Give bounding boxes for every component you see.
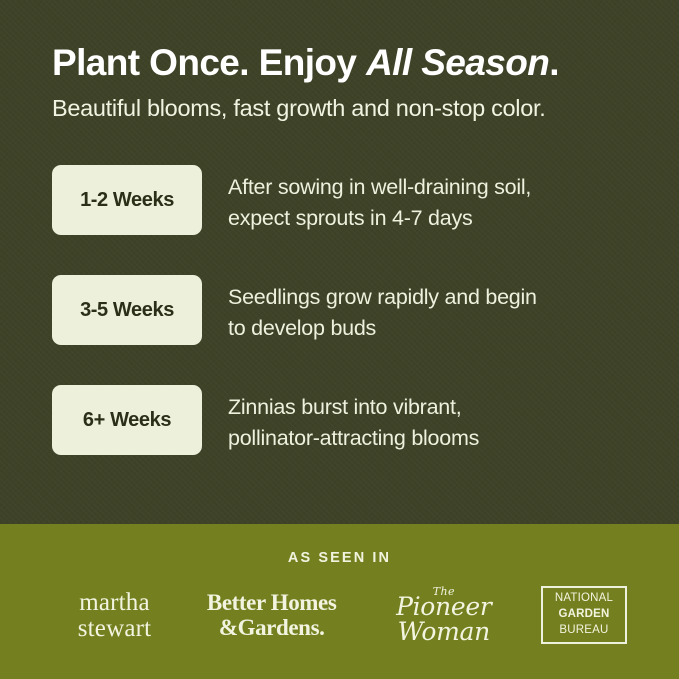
logo-line: martha [79, 590, 150, 615]
description-line: Seedlings grow rapidly and begin [228, 282, 627, 313]
description-line: After sowing in well-draining soil, [228, 172, 627, 203]
logo-line: &Gardens. [219, 616, 325, 639]
timeline-badge-6-plus-weeks: 6+ Weeks [52, 385, 202, 455]
timeline-row: 1-2 Weeks After sowing in well-draining … [52, 165, 627, 235]
logo-line: BUREAU [559, 623, 608, 639]
timeline-row: 6+ Weeks Zinnias burst into vibrant, pol… [52, 385, 627, 455]
better-homes-and-gardens-logo: Better Homes &Gardens. [197, 591, 347, 639]
headline-part1: Plant Once. Enjoy [52, 42, 366, 83]
logo-line: GARDEN [558, 607, 609, 623]
timeline-badge-1-2-weeks: 1-2 Weeks [52, 165, 202, 235]
description-line: expect sprouts in 4-7 days [228, 203, 627, 234]
press-logo-row: martha stewart Better Homes &Gardens. Th… [24, 586, 655, 644]
press-section: AS SEEN IN martha stewart Better Homes &… [0, 524, 679, 679]
logo-line: Better Homes [207, 591, 337, 614]
national-garden-bureau-logo: NATIONAL GARDEN BUREAU [541, 586, 627, 644]
description-line: Zinnias burst into vibrant, [228, 392, 627, 423]
badge-label: 3-5 Weeks [80, 300, 174, 320]
description-line: pollinator-attracting blooms [228, 423, 627, 454]
hero-section: Plant Once. Enjoy All Season. Beautiful … [0, 0, 679, 524]
badge-label: 6+ Weeks [83, 410, 171, 430]
timeline-badge-3-5-weeks: 3-5 Weeks [52, 275, 202, 345]
headline-part2: . [549, 42, 559, 83]
growth-timeline: 1-2 Weeks After sowing in well-draining … [52, 165, 627, 455]
timeline-row: 3-5 Weeks Seedlings grow rapidly and beg… [52, 275, 627, 345]
badge-label: 1-2 Weeks [80, 190, 174, 210]
martha-stewart-logo: martha stewart [52, 590, 177, 641]
logo-line: NATIONAL [555, 591, 613, 607]
headline-emphasis: All Season [366, 42, 549, 83]
the-pioneer-woman-logo: The Pioneer Woman [366, 586, 521, 644]
subtitle: Beautiful blooms, fast growth and non-st… [52, 83, 627, 122]
logo-line: Pioneer Woman [366, 594, 521, 644]
page-title: Plant Once. Enjoy All Season. [52, 0, 627, 83]
description-line: to develop buds [228, 313, 627, 344]
logo-line: stewart [78, 616, 152, 641]
timeline-description-2: Seedlings grow rapidly and begin to deve… [228, 275, 627, 343]
timeline-description-3: Zinnias burst into vibrant, pollinator-a… [228, 385, 627, 453]
timeline-description-1: After sowing in well-draining soil, expe… [228, 165, 627, 233]
promo-poster: Plant Once. Enjoy All Season. Beautiful … [0, 0, 679, 679]
as-seen-in-heading: AS SEEN IN [288, 524, 391, 566]
